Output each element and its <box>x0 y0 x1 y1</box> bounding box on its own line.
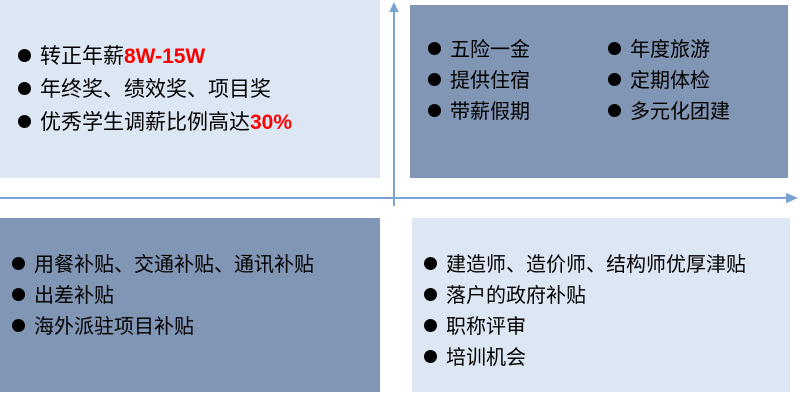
list-item-label: 年终奖、绩效奖、项目奖 <box>40 77 271 103</box>
list-item-label: 五险一金 <box>450 38 530 63</box>
arrow-up-icon <box>386 0 402 210</box>
bullet-dot-icon <box>428 42 441 55</box>
list-item-label: 转正年薪8W-15W <box>40 44 205 70</box>
list-item: 海外派驻项目补贴 <box>12 314 314 340</box>
list-item-label: 提供住宿 <box>450 69 530 94</box>
bullet-dot-icon <box>608 104 621 117</box>
list-item-label: 培训机会 <box>446 345 526 371</box>
bullet-dot-icon <box>424 257 437 270</box>
list-item: 年度旅游 <box>608 38 730 63</box>
bullet-dot-icon <box>18 49 31 62</box>
list-item: 职称评审 <box>424 314 746 340</box>
bullet-dot-icon <box>18 82 31 95</box>
list-item: 多元化团建 <box>608 100 730 125</box>
list-item: 转正年薪8W-15W <box>18 44 292 70</box>
list-item: 年终奖、绩效奖、项目奖 <box>18 77 292 103</box>
list-item-label: 优秀学生调薪比例高达30% <box>40 110 292 136</box>
list-item-label: 年度旅游 <box>630 38 710 63</box>
development-bullet-list: 建造师、造价师、结构师优厚津贴 落户的政府补贴 职称评审 培训机会 <box>424 252 746 376</box>
list-item: 建造师、造价师、结构师优厚津贴 <box>424 252 746 278</box>
list-item: 用餐补贴、交通补贴、通讯补贴 <box>12 252 314 278</box>
bullet-dot-icon <box>424 288 437 301</box>
list-item-label: 建造师、造价师、结构师优厚津贴 <box>446 252 746 278</box>
list-item-label: 定期体检 <box>630 69 710 94</box>
list-item-label: 落户的政府补贴 <box>446 283 586 309</box>
list-item: 提供住宿 <box>428 69 530 94</box>
bullet-dot-icon <box>424 319 437 332</box>
list-item-label: 出差补贴 <box>34 283 114 309</box>
salary-bullet-list: 转正年薪8W-15W 年终奖、绩效奖、项目奖 优秀学生调薪比例高达30% <box>18 44 292 143</box>
list-item-label: 用餐补贴、交通补贴、通讯补贴 <box>34 252 314 278</box>
list-item-label: 职称评审 <box>446 314 526 340</box>
list-item: 五险一金 <box>428 38 530 63</box>
bullet-dot-icon <box>608 42 621 55</box>
list-item: 落户的政府补贴 <box>424 283 746 309</box>
list-item: 优秀学生调薪比例高达30% <box>18 110 292 136</box>
bullet-dot-icon <box>608 73 621 86</box>
list-item-label: 带薪假期 <box>450 100 530 125</box>
list-item: 定期体检 <box>608 69 730 94</box>
list-item-label: 多元化团建 <box>630 100 730 125</box>
list-item: 出差补贴 <box>12 283 314 309</box>
bullet-dot-icon <box>428 73 441 86</box>
bullet-dot-icon <box>424 350 437 363</box>
bullet-dot-icon <box>12 288 25 301</box>
bullet-dot-icon <box>428 104 441 117</box>
allowance-bullet-list: 用餐补贴、交通补贴、通讯补贴 出差补贴 海外派驻项目补贴 <box>12 252 314 345</box>
benefits-bullet-list-right: 年度旅游 定期体检 多元化团建 <box>608 38 730 131</box>
slide-canvas: 转正年薪8W-15W 年终奖、绩效奖、项目奖 优秀学生调薪比例高达30% 五险一… <box>0 0 800 400</box>
bullet-dot-icon <box>12 257 25 270</box>
list-item: 培训机会 <box>424 345 746 371</box>
arrow-right-icon <box>0 188 800 208</box>
list-item: 带薪假期 <box>428 100 530 125</box>
bullet-dot-icon <box>18 115 31 128</box>
list-item-label: 海外派驻项目补贴 <box>34 314 194 340</box>
bullet-dot-icon <box>12 319 25 332</box>
benefits-bullet-list-left: 五险一金 提供住宿 带薪假期 <box>428 38 530 131</box>
